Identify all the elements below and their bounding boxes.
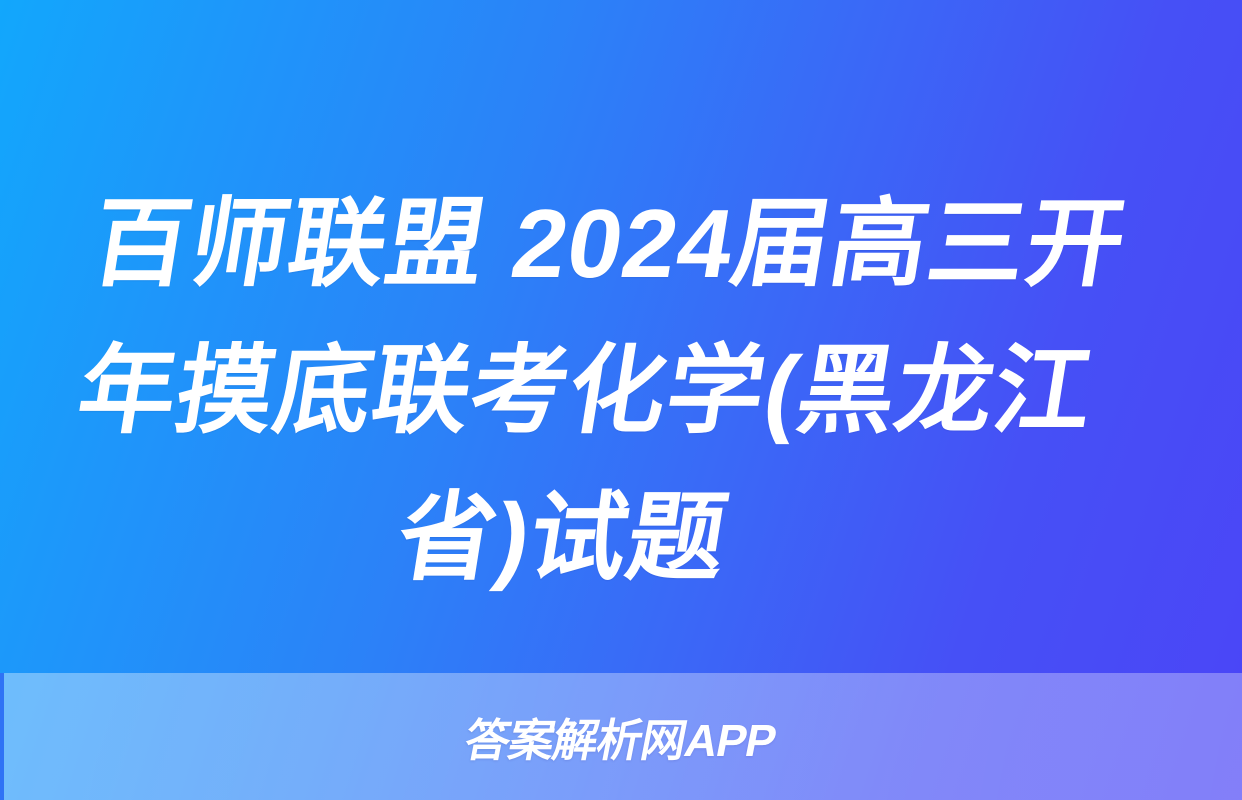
title-card: 百师联盟 2024届高三开年摸底联考化学(黑龙江省)试题 答案解析网APP [0, 0, 1242, 800]
page-title: 百师联盟 2024届高三开年摸底联考化学(黑龙江省)试题 [10, 170, 1162, 611]
watermark-label: 答案解析网APP [0, 673, 1242, 800]
